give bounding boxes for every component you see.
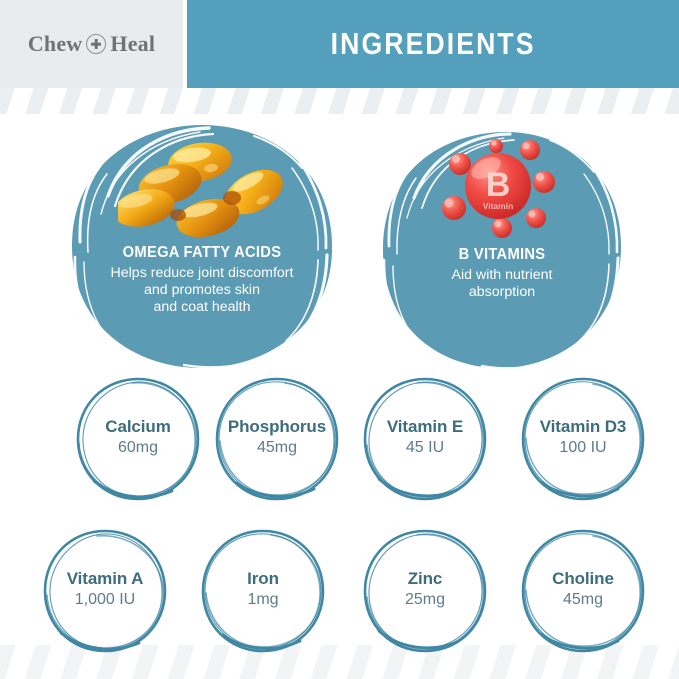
- nutrient-amount: 25mg: [353, 591, 497, 609]
- nutrient-circle-choline: Choline 45mg: [517, 525, 649, 657]
- brand-logo-panel: Chew Heal: [0, 0, 183, 88]
- ingredients-infographic: Chew Heal INGREDIENTS: [0, 0, 679, 679]
- feature-omega-fatty-acids: OMEGA FATTY ACIDS Helps reduce joint dis…: [68, 122, 336, 372]
- nutrient-circle-zinc: Zinc 25mg: [359, 525, 491, 657]
- nutrient-label: Vitamin A 1,000 IU: [33, 569, 177, 609]
- feature-bvitamins-text: B VITAMINS Aid with nutrient absorption: [378, 246, 626, 301]
- brand-logo: Chew Heal: [28, 33, 155, 55]
- nutrient-name: Choline: [511, 569, 655, 589]
- nutrient-amount: 45mg: [205, 439, 349, 457]
- omega-softgel-capsules-icon: [118, 140, 288, 250]
- nutrient-label: Choline 45mg: [511, 569, 655, 609]
- nutrient-label: Zinc 25mg: [353, 569, 497, 609]
- b-vitamin-molecule-icon: B Vitamin: [436, 136, 571, 246]
- nutrient-circle-vitamin-e: Vitamin E 45 IU: [359, 373, 491, 505]
- nutrient-name: Vitamin E: [353, 417, 497, 437]
- feature-omega-name: OMEGA FATTY ACIDS: [75, 244, 330, 262]
- nutrient-label: Phosphorus 45mg: [205, 417, 349, 457]
- nutrient-name: Vitamin D3: [511, 417, 655, 437]
- nutrient-circle-iron: Iron 1mg: [197, 525, 329, 657]
- nutrient-amount: 1mg: [191, 591, 335, 609]
- nutrient-circle-vitamin-d3: Vitamin D3 100 IU: [517, 373, 649, 505]
- feature-bvitamins-description: Aid with nutrient absorption: [378, 267, 626, 301]
- page-title: INGREDIENTS: [331, 26, 536, 62]
- nutrient-amount: 45mg: [511, 591, 655, 609]
- nutrient-amount: 1,000 IU: [33, 591, 177, 609]
- feature-b-vitamins: B Vitamin B VITAMINS Aid with nutrient a…: [378, 128, 626, 372]
- nutrient-circle-calcium: Calcium 60mg: [72, 373, 204, 505]
- nutrient-label: Vitamin D3 100 IU: [511, 417, 655, 457]
- diagonal-stripes-top: [0, 88, 679, 114]
- nutrient-label: Iron 1mg: [191, 569, 335, 609]
- feature-omega-description: Helps reduce joint discomfort and promot…: [68, 265, 336, 316]
- svg-text:Vitamin: Vitamin: [483, 201, 514, 211]
- logo-word-heal: Heal: [110, 33, 155, 55]
- feature-omega-text: OMEGA FATTY ACIDS Helps reduce joint dis…: [68, 244, 336, 316]
- nutrient-label: Vitamin E 45 IU: [353, 417, 497, 457]
- nutrient-amount: 60mg: [66, 439, 210, 457]
- nutrient-amount: 45 IU: [353, 439, 497, 457]
- nutrient-name: Phosphorus: [205, 417, 349, 437]
- header-bar: Chew Heal INGREDIENTS: [0, 0, 679, 88]
- nutrient-amount: 100 IU: [511, 439, 655, 457]
- nutrient-label: Calcium 60mg: [66, 417, 210, 457]
- circled-plus-icon: [86, 34, 106, 54]
- nutrient-circle-phosphorus: Phosphorus 45mg: [211, 373, 343, 505]
- nutrient-circle-vitamin-a: Vitamin A 1,000 IU: [39, 525, 171, 657]
- title-panel: INGREDIENTS: [187, 0, 679, 88]
- nutrient-name: Calcium: [66, 417, 210, 437]
- nutrient-name: Iron: [191, 569, 335, 589]
- nutrient-name: Zinc: [353, 569, 497, 589]
- feature-bvitamins-name: B VITAMINS: [384, 246, 620, 264]
- svg-text:B: B: [486, 166, 511, 204]
- nutrient-name: Vitamin A: [33, 569, 177, 589]
- logo-word-chew: Chew: [28, 33, 83, 55]
